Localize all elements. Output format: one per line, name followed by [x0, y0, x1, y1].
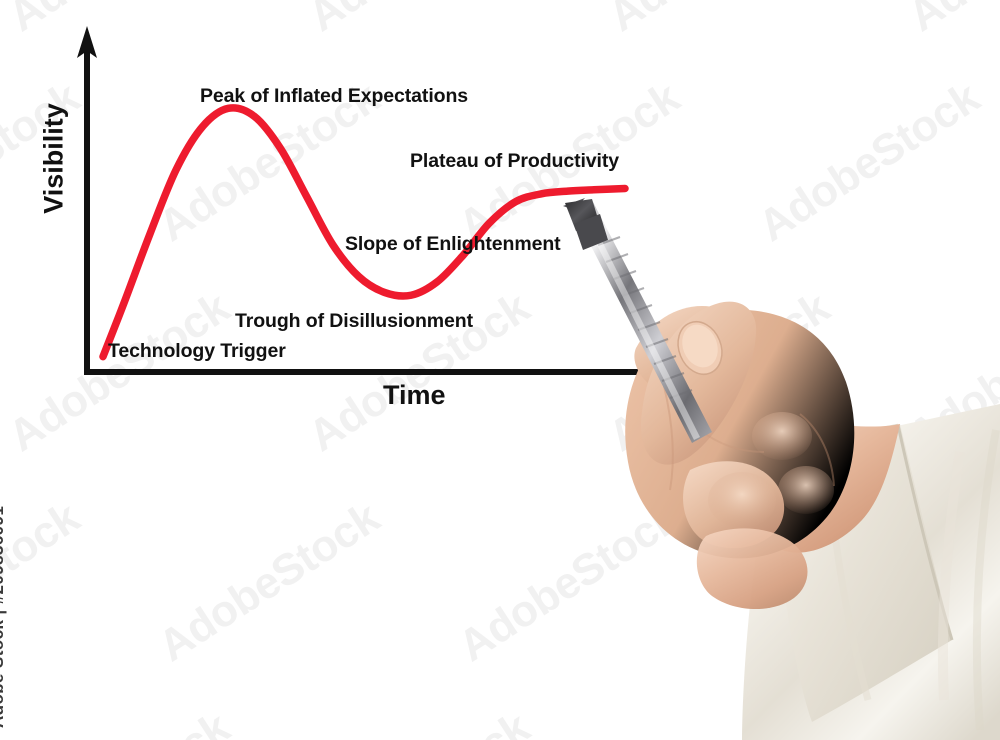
- y-axis: [77, 26, 97, 372]
- x-axis-label: Time: [383, 380, 446, 411]
- label-trough-of-disillusionment: Trough of Disillusionment: [235, 310, 473, 333]
- hype-cycle-illustration: AdobeStockAdobeStockAdobeStockAdobeStock…: [0, 0, 1000, 740]
- label-peak-of-inflated-expectations: Peak of Inflated Expectations: [200, 85, 468, 108]
- label-plateau-of-productivity: Plateau of Productivity: [410, 150, 619, 173]
- label-technology-trigger: Technology Trigger: [108, 340, 286, 363]
- chart-area: Visibility Time Technology Trigger Peak …: [0, 0, 1000, 740]
- label-slope-of-enlightenment: Slope of Enlightenment: [345, 233, 561, 256]
- y-axis-label: Visibility: [39, 94, 70, 224]
- hype-cycle-chart: [0, 0, 1000, 740]
- adobe-stock-credit: Adobe Stock | #209836091: [0, 506, 8, 728]
